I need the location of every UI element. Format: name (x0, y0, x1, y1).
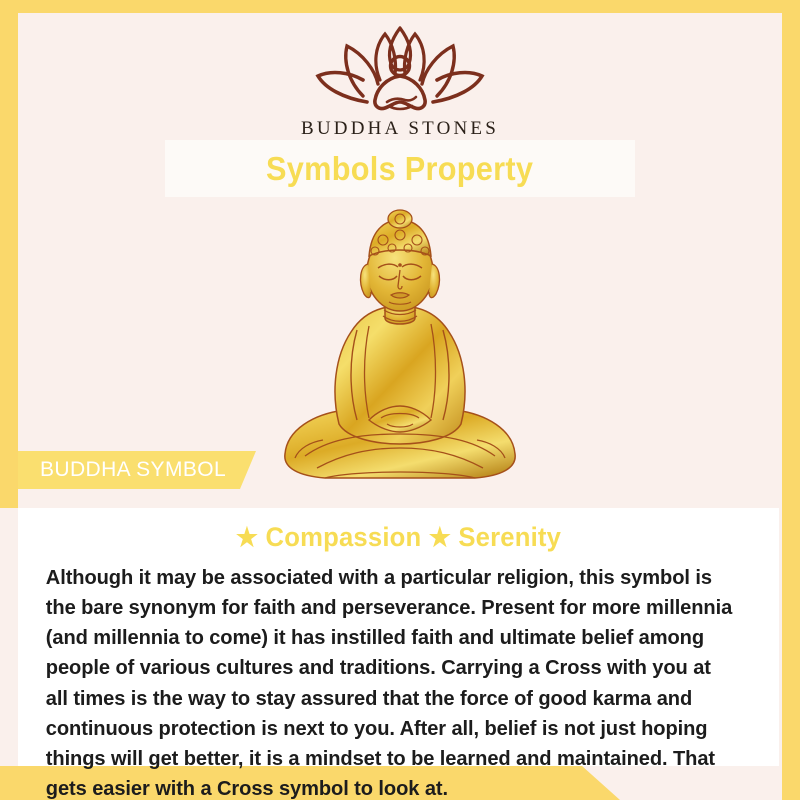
headline-word-compassion: Compassion (266, 522, 422, 552)
brand-name: BUDDHA STONES (0, 118, 800, 140)
headline-word-serenity: Serenity (458, 522, 561, 552)
decor-band-top (0, 0, 800, 13)
title-banner: Symbols Property (165, 140, 635, 197)
content-headline: ★ Compassion ★ Serenity (54, 522, 743, 553)
lotus-meditation-figure-icon (305, 18, 495, 116)
section-ribbon: BUDDHA SYMBOL (18, 451, 256, 489)
star-icon-1: ★ (236, 522, 258, 552)
page-title: Symbols Property (266, 150, 533, 188)
ribbon-label: BUDDHA SYMBOL (18, 458, 226, 482)
content-paragraph: Although it may be associated with a par… (36, 563, 747, 800)
poster-canvas: BUDDHA STONES Symbols Property (0, 0, 800, 800)
content-card: ★ Compassion ★ Serenity Although it may … (18, 508, 779, 766)
brand-logo: BUDDHA STONES (0, 18, 800, 140)
star-icon-2: ★ (429, 522, 451, 552)
golden-seated-buddha-statue (265, 206, 535, 496)
